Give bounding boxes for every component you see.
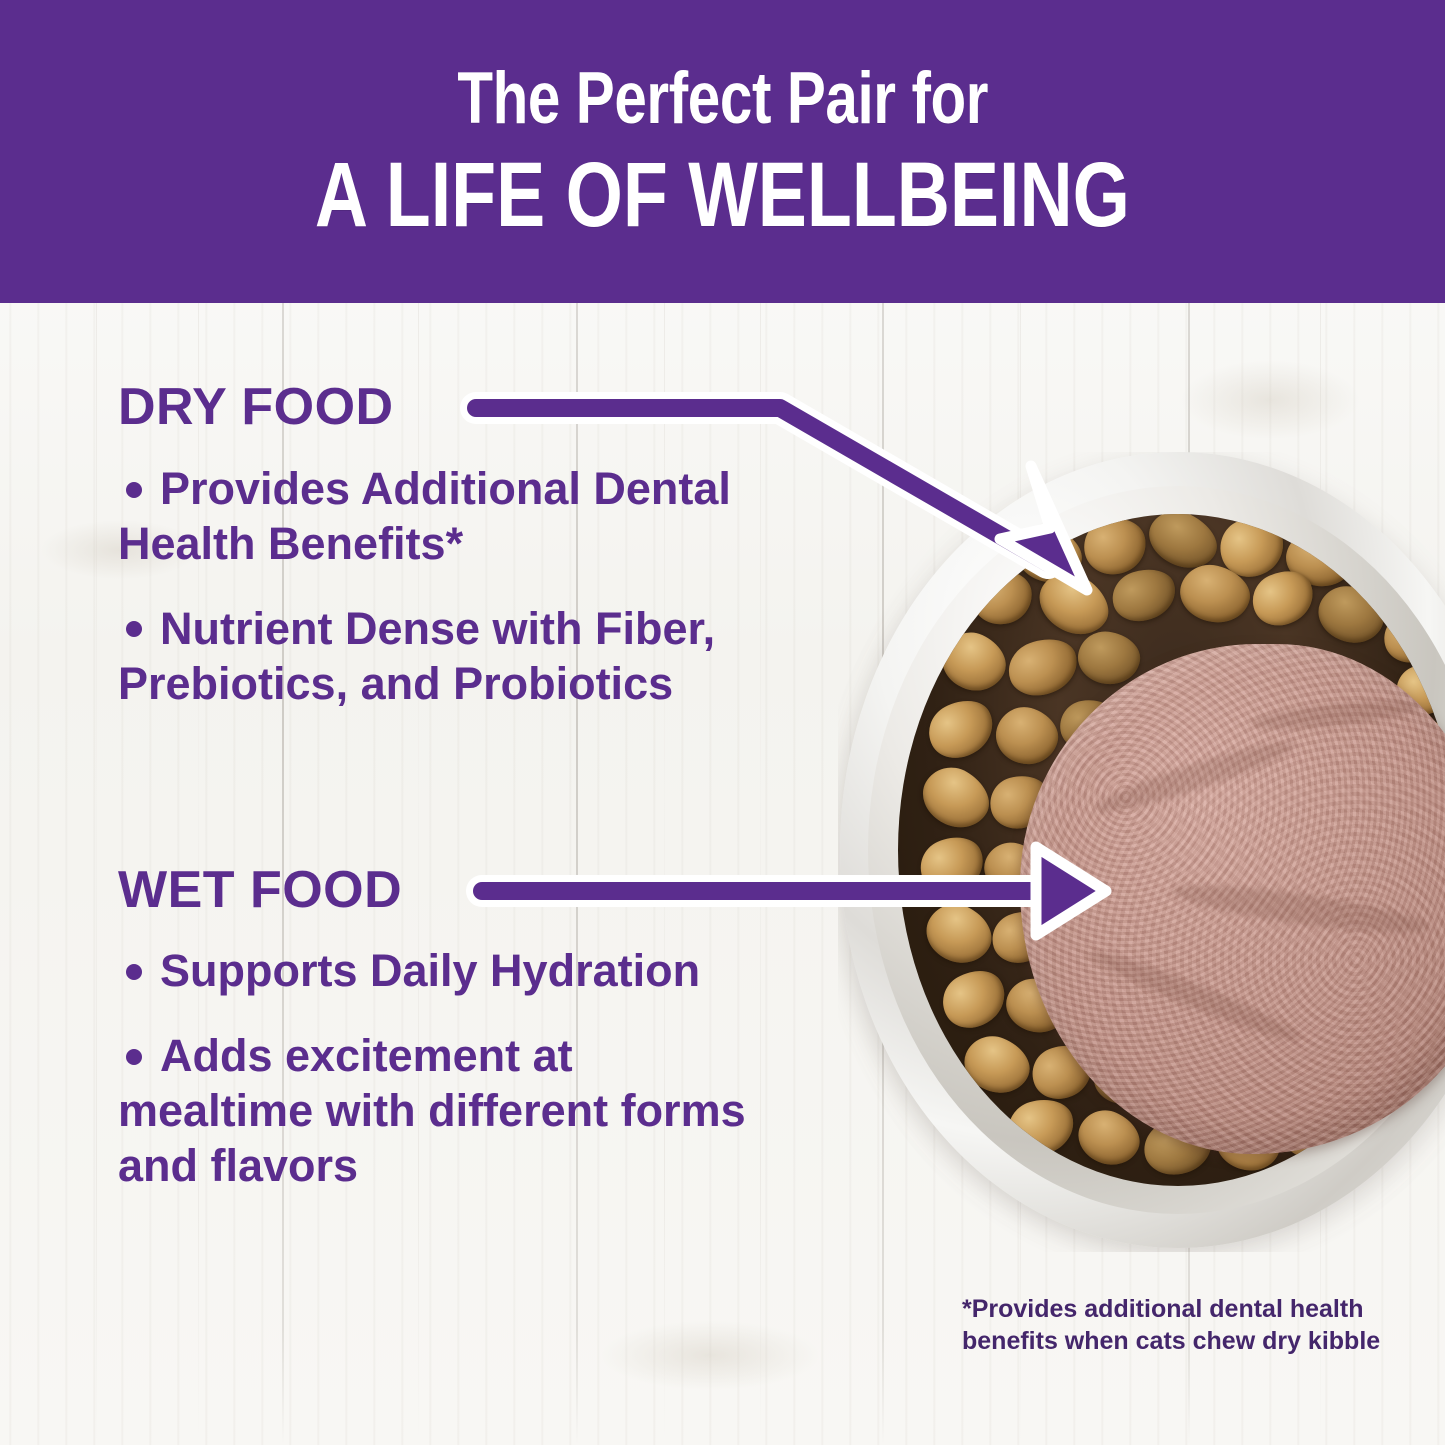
footnote-line-1: *Provides additional dental health	[962, 1293, 1382, 1325]
poster-canvas: The Perfect Pair for A LIFE OF WELLBEING	[0, 0, 1445, 1445]
list-item: Adds excitement at mealtime with differe…	[118, 1029, 778, 1194]
wet-food-bullet-list: Supports Daily Hydration Adds excitement…	[118, 944, 778, 1194]
list-item: Supports Daily Hydration	[118, 944, 778, 999]
wet-food-pate	[1020, 644, 1445, 1154]
wood-smudge	[1180, 360, 1360, 440]
bullet-dot-icon	[126, 621, 142, 637]
bullet-dot-icon	[126, 964, 142, 980]
list-item-text: Provides Additional Dental Health Benefi…	[118, 463, 731, 569]
list-item-text: Adds excitement at mealtime with differe…	[118, 1030, 746, 1191]
benefits-copy-column: DRY FOOD Provides Additional Dental Heal…	[0, 0, 840, 1445]
wet-food-heading: WET FOOD	[118, 864, 402, 916]
pet-food-bowl-photo	[838, 452, 1445, 1252]
bullet-dot-icon	[126, 482, 142, 498]
list-item-text: Supports Daily Hydration	[160, 945, 700, 996]
dry-food-heading: DRY FOOD	[118, 381, 394, 433]
footnote-disclaimer: *Provides additional dental health benef…	[962, 1293, 1382, 1357]
list-item-text: Nutrient Dense with Fiber, Prebiotics, a…	[118, 603, 715, 709]
footnote-line-2: benefits when cats chew dry kibble	[962, 1325, 1382, 1357]
list-item: Provides Additional Dental Health Benefi…	[118, 462, 778, 572]
dry-food-bullet-list: Provides Additional Dental Health Benefi…	[118, 462, 778, 712]
list-item: Nutrient Dense with Fiber, Prebiotics, a…	[118, 602, 778, 712]
bullet-dot-icon	[126, 1049, 142, 1065]
